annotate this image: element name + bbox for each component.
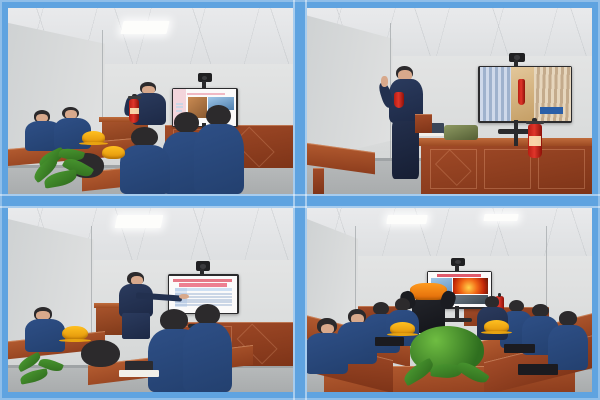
panel-light — [483, 214, 518, 221]
kit-bag — [444, 125, 478, 140]
potted-plant — [14, 355, 77, 392]
panel-light — [386, 215, 428, 224]
slide-fire-photo — [453, 278, 488, 294]
trainee-head — [395, 298, 410, 310]
held-extinguisher — [394, 92, 404, 109]
podium — [415, 114, 432, 133]
table-leg — [313, 168, 324, 194]
slide-title-line — [179, 283, 227, 287]
photo-top-left[interactable] — [8, 8, 293, 194]
helmet-brim — [79, 142, 108, 145]
photo-bottom-left-image — [8, 208, 293, 392]
safety-helmet — [102, 146, 125, 159]
slide-curtain-left — [480, 67, 511, 121]
slide-text-line — [176, 103, 184, 105]
trainee — [25, 307, 65, 351]
photo-top-left-image — [8, 8, 293, 194]
instructor-hand — [381, 76, 387, 87]
slide-heading — [437, 274, 481, 277]
trainee-foreground — [71, 340, 134, 392]
photo-bottom-left[interactable] — [8, 208, 293, 392]
trainee-torso — [120, 145, 170, 194]
panel-light — [120, 21, 169, 34]
trainee-head — [559, 311, 577, 326]
horizontal-divider — [0, 194, 600, 208]
paper — [119, 370, 159, 377]
extinguisher-label — [130, 108, 139, 114]
tv-display[interactable] — [478, 66, 572, 123]
credenza-door — [484, 149, 532, 188]
potted-plant — [31, 148, 105, 195]
instructor-legs — [122, 313, 149, 338]
panel-light — [115, 215, 163, 228]
trainee-torso — [183, 323, 232, 392]
trainee-foreground — [185, 304, 231, 392]
notebook — [518, 364, 558, 375]
slide-header-line — [173, 279, 232, 282]
trainee-foreground — [122, 127, 168, 194]
trainee-foreground — [196, 105, 242, 194]
extinguisher-label — [529, 136, 542, 145]
trainee-torso — [194, 124, 243, 194]
foreground-plant — [398, 363, 495, 392]
tv-base — [498, 129, 532, 134]
trainee-torso — [548, 325, 588, 370]
slide-text-line — [176, 106, 184, 108]
tv-screen — [480, 67, 571, 121]
notebook — [375, 337, 404, 346]
trainee-head — [206, 105, 231, 126]
trainee-head — [195, 304, 221, 325]
photo-bottom-right-image — [307, 208, 592, 392]
instructor-torso — [119, 284, 153, 317]
notebook — [504, 344, 535, 353]
trainee-head — [131, 127, 157, 147]
slide-heading — [187, 93, 225, 95]
photo-collage — [0, 0, 600, 400]
photo-top-right-image — [307, 8, 592, 194]
slide-extinguisher — [518, 79, 525, 105]
instructor-hand — [179, 294, 189, 300]
credenza-door — [538, 149, 586, 188]
slide-logo — [540, 107, 564, 113]
trainee-torso — [25, 319, 65, 351]
trainee — [549, 311, 586, 370]
plant-leaf — [456, 358, 491, 387]
trainee-head — [81, 340, 120, 367]
photo-bottom-right[interactable] — [307, 208, 592, 392]
wall-corner — [91, 226, 92, 347]
photo-top-right[interactable] — [307, 8, 592, 194]
